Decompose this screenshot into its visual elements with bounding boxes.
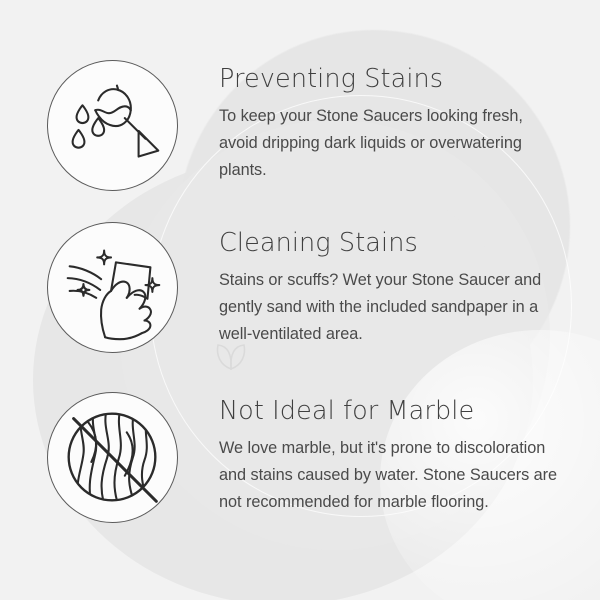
no-marble-icon — [47, 392, 178, 523]
spilling-wine-glass-icon — [47, 60, 178, 191]
section-3-title: Not Ideal for Marble — [219, 396, 559, 426]
hand-wiping-cloth-icon — [47, 222, 178, 353]
section-cleaning-stains: Cleaning Stains Stains or scuffs? Wet yo… — [0, 222, 600, 353]
section-not-ideal-for-marble: Not Ideal for Marble We love marble, but… — [0, 392, 600, 523]
section-3-body: We love marble, but it's prone to discol… — [219, 435, 559, 516]
section-2-body: Stains or scuffs? Wet your Stone Saucer … — [219, 267, 559, 348]
section-1-body: To keep your Stone Saucers looking fresh… — [219, 103, 559, 184]
section-1-title: Preventing Stains — [219, 64, 559, 94]
section-preventing-stains: Preventing Stains To keep your Stone Sau… — [0, 60, 600, 191]
section-3-text: Not Ideal for Marble We love marble, but… — [219, 392, 559, 516]
section-1-text: Preventing Stains To keep your Stone Sau… — [219, 60, 559, 184]
section-2-title: Cleaning Stains — [219, 228, 559, 258]
care-instructions-graphic: Preventing Stains To keep your Stone Sau… — [0, 0, 600, 600]
sections-list: Preventing Stains To keep your Stone Sau… — [0, 0, 600, 600]
section-2-text: Cleaning Stains Stains or scuffs? Wet yo… — [219, 222, 559, 348]
